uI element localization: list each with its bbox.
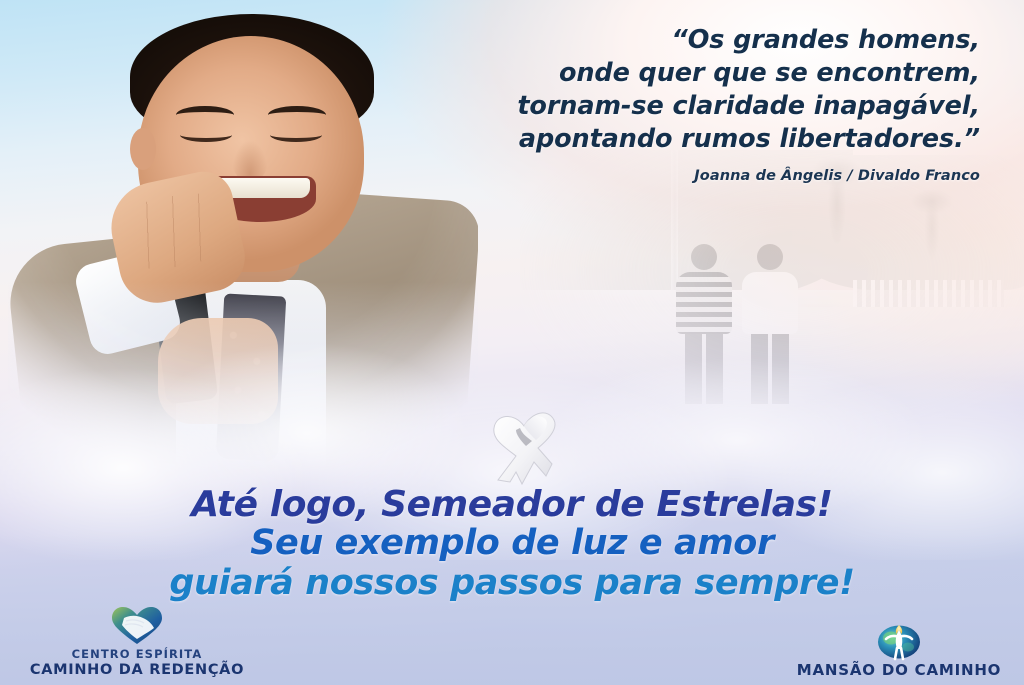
quote-line-1: “Os grandes homens, xyxy=(420,24,980,57)
logo-centro-espirita-caminho-da-redencao: CENTRO ESPÍRITA CAMINHO DA REDENÇÃO xyxy=(12,605,262,679)
portrait-fade-overlay xyxy=(8,0,478,470)
background-person xyxy=(742,244,798,404)
background-photo-plaza xyxy=(520,150,1024,420)
person-torso xyxy=(742,272,798,334)
white-awareness-ribbon-icon xyxy=(476,404,572,488)
background-person xyxy=(676,244,732,404)
palm-tree-icon xyxy=(903,188,961,284)
logo-left-line-2: CAMINHO DA REDENÇÃO xyxy=(30,661,244,679)
logo-mansao-do-caminho: MANSÃO DO CAMINHO xyxy=(784,619,1014,679)
memorial-poster: “Os grandes homens, onde quer que se enc… xyxy=(0,0,1024,685)
quote-author: Joanna de Ângelis / Divaldo Franco xyxy=(420,168,980,184)
person-legs xyxy=(751,334,789,404)
logo-right-line-2: MANSÃO DO CAMINHO xyxy=(797,661,1001,679)
headline-line-1: Até logo, Semeador de Estrelas! xyxy=(0,485,1024,524)
headline-block: Até logo, Semeador de Estrelas! Seu exem… xyxy=(0,485,1024,603)
quote-line-3: tornam-se claridade inapagável, xyxy=(420,90,980,123)
logo-left-line-1: CENTRO ESPÍRITA xyxy=(72,647,203,661)
quote-line-2: onde quer que se encontrem, xyxy=(420,57,980,90)
person-torso xyxy=(676,272,732,334)
person-head xyxy=(757,244,783,270)
heart-with-hands-icon xyxy=(110,605,164,647)
globe-with-figure-icon xyxy=(875,619,923,661)
person-legs xyxy=(685,334,723,404)
person-head xyxy=(691,244,717,270)
portrait-divaldo-franco xyxy=(8,0,478,470)
quote-block: “Os grandes homens, onde quer que se enc… xyxy=(420,24,980,156)
quote-line-4: apontando rumos libertadores.” xyxy=(420,123,980,156)
headline-line-3: guiará nossos passos para sempre! xyxy=(0,563,1024,603)
headline-line-2: Seu exemplo de luz e amor xyxy=(0,524,1024,563)
